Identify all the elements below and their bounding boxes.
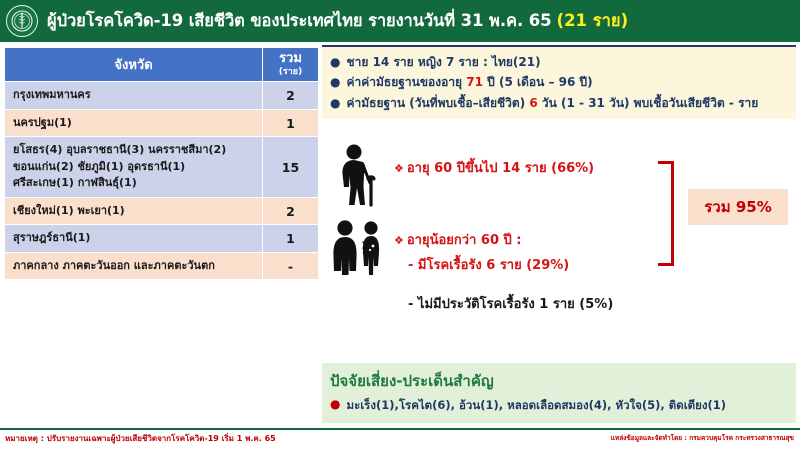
table-cell-province: นครปฐม(1) xyxy=(5,109,263,137)
total-percentage-badge: รวม 95% xyxy=(688,189,788,225)
footer-source: แหล่งข้อมูลและจัดทำโดย : กรมควบคุมโรค กร… xyxy=(611,433,794,443)
infographic-page: ผู้ป่วยโรคโควิด-19 เสียชีวิต ของประเทศไท… xyxy=(0,0,800,450)
risk-factors-title: ปัจจัยเสี่ยง-ประเด็นสำคัญ xyxy=(330,369,788,393)
elderly-age-text: อายุ 60 ปีขึ้นไป 14 ราย (66%) xyxy=(407,161,594,176)
table-cell-total: 2 xyxy=(263,197,319,225)
table-cell-province: เชียงใหม่(1) พะเยา(1) xyxy=(5,197,263,225)
summary-text-segment: ค่ามัธยฐาน (วันที่พบเชื้อ–เสียชีวิต) xyxy=(346,96,529,110)
table-row: นครปฐม(1)1 xyxy=(5,109,319,137)
risk-factors-item-text: มะเร็ง(1),โรคไต(6), อ้วน(1), หลอดเลือดสม… xyxy=(346,397,726,415)
table-cell-province: สุราษฎร์ธานี(1) xyxy=(5,225,263,253)
province-table-head: จังหวัด รวม (ราย) xyxy=(5,48,319,82)
table-cell-total: 15 xyxy=(263,137,319,198)
footer-note: หมายเหตุ : ปรับรายงานเฉพาะผู้ป่วยเสียชีว… xyxy=(5,432,276,445)
page-header: ผู้ป่วยโรคโควิด-19 เสียชีวิต ของประเทศไท… xyxy=(0,0,800,42)
column-header-total-unit: (ราย) xyxy=(265,67,316,77)
younger-with-chronic-line: - มีโรคเรื้อรัง 6 ราย (29%) xyxy=(408,254,569,275)
column-header-province: จังหวัด xyxy=(5,48,263,82)
two-adults-icon xyxy=(330,219,388,283)
table-row: กรุงเทพมหานคร2 xyxy=(5,82,319,110)
province-table-body: กรุงเทพมหานคร2นครปฐม(1)1ยโสธร(4) อุบลราช… xyxy=(5,82,319,280)
bullet-icon: ● xyxy=(330,397,340,411)
table-cell-total: - xyxy=(263,252,319,280)
table-row: ภาคกลาง ภาคตะวันออก และภาคตะวันตก- xyxy=(5,252,319,280)
footer-divider xyxy=(0,428,800,430)
highlighted-value: 71 xyxy=(466,75,483,89)
page-title: ผู้ป่วยโรคโควิด-19 เสียชีวิต ของประเทศไท… xyxy=(47,8,552,34)
highlighted-value: 6 xyxy=(529,96,537,110)
province-table: จังหวัด รวม (ราย) กรุงเทพมหานคร2นครปฐม(1… xyxy=(4,47,319,280)
summary-line: ●ชาย 14 ราย หญิง 7 ราย : ไทย(21) xyxy=(330,54,790,71)
summary-text-segment: ชาย 14 ราย หญิง 7 ราย : ไทย(21) xyxy=(346,55,540,69)
bullet-icon: ● xyxy=(330,74,340,90)
summary-text-segment: ค่าค่ามัธยฐานของอายุ xyxy=(346,75,466,89)
table-row: ยโสธร(4) อุบลราชธานี(3) นครราชสีมา(2)ขอน… xyxy=(5,137,319,198)
bullet-icon: ● xyxy=(330,95,340,111)
province-table-wrapper: จังหวัด รวม (ราย) กรุงเทพมหานคร2นครปฐม(1… xyxy=(4,47,318,280)
table-row: สุราษฎร์ธานี(1)1 xyxy=(5,225,319,253)
younger-no-chronic-line: - ไม่มีประวัติโรคเรื้อรัง 1 ราย (5%) xyxy=(408,293,613,314)
younger-age-text: อายุน้อยกว่า 60 ปี : xyxy=(407,233,522,248)
risk-factors-item: ● มะเร็ง(1),โรคไต(6), อ้วน(1), หลอดเลือด… xyxy=(330,397,788,415)
summary-text-segment: วัน (1 - 31 วัน) พบเชื้อวันเสียชีวิต - ร… xyxy=(538,96,759,110)
table-cell-province: กรุงเทพมหานคร xyxy=(5,82,263,110)
elderly-person-with-cane-icon xyxy=(330,143,384,213)
table-header-row: จังหวัด รวม (ราย) xyxy=(5,48,319,82)
table-cell-total: 1 xyxy=(263,109,319,137)
table-cell-province: ยโสธร(4) อุบลราชธานี(3) นครราชสีมา(2)ขอน… xyxy=(5,137,263,198)
table-cell-total: 1 xyxy=(263,225,319,253)
elderly-age-line: ❖อายุ 60 ปีขึ้นไป 14 ราย (66%) xyxy=(394,157,594,178)
summary-line: ●ค่าค่ามัธยฐานของอายุ 71 ปี (5 เดือน – 9… xyxy=(330,74,790,91)
diamond-bullet-icon: ❖ xyxy=(394,162,404,175)
header-case-count: (21 ราย) xyxy=(557,8,629,34)
column-header-total: รวม (ราย) xyxy=(263,48,319,82)
summary-line-text: ค่าค่ามัธยฐานของอายุ 71 ปี (5 เดือน – 96… xyxy=(346,74,592,91)
table-cell-province: ภาคกลาง ภาคตะวันออก และภาคตะวันตก xyxy=(5,252,263,280)
grouping-bracket xyxy=(658,161,674,266)
younger-age-line: ❖อายุน้อยกว่า 60 ปี : xyxy=(394,229,522,250)
ministry-of-public-health-emblem-icon xyxy=(6,5,38,37)
risk-factors-box: ปัจจัยเสี่ยง-ประเด็นสำคัญ ● มะเร็ง(1),โร… xyxy=(322,363,796,423)
age-breakdown-section: ❖อายุ 60 ปีขึ้นไป 14 ราย (66%) ❖อายุน้อย… xyxy=(322,141,796,331)
table-cell-total: 2 xyxy=(263,82,319,110)
summary-line: ●ค่ามัธยฐาน (วันที่พบเชื้อ–เสียชีวิต) 6 … xyxy=(330,95,790,112)
table-row: เชียงใหม่(1) พะเยา(1)2 xyxy=(5,197,319,225)
summary-line-text: ชาย 14 ราย หญิง 7 ราย : ไทย(21) xyxy=(346,54,540,71)
bullet-icon: ● xyxy=(330,54,340,70)
diamond-bullet-icon: ❖ xyxy=(394,234,404,247)
summary-line-text: ค่ามัธยฐาน (วันที่พบเชื้อ–เสียชีวิต) 6 ว… xyxy=(346,95,758,112)
column-header-total-label: รวม xyxy=(279,51,302,66)
summary-box: ●ชาย 14 ราย หญิง 7 ราย : ไทย(21)●ค่าค่าม… xyxy=(322,45,796,119)
summary-text-segment: ปี (5 เดือน – 96 ปี) xyxy=(483,75,593,89)
right-panel: ●ชาย 14 ราย หญิง 7 ราย : ไทย(21)●ค่าค่าม… xyxy=(322,45,796,427)
